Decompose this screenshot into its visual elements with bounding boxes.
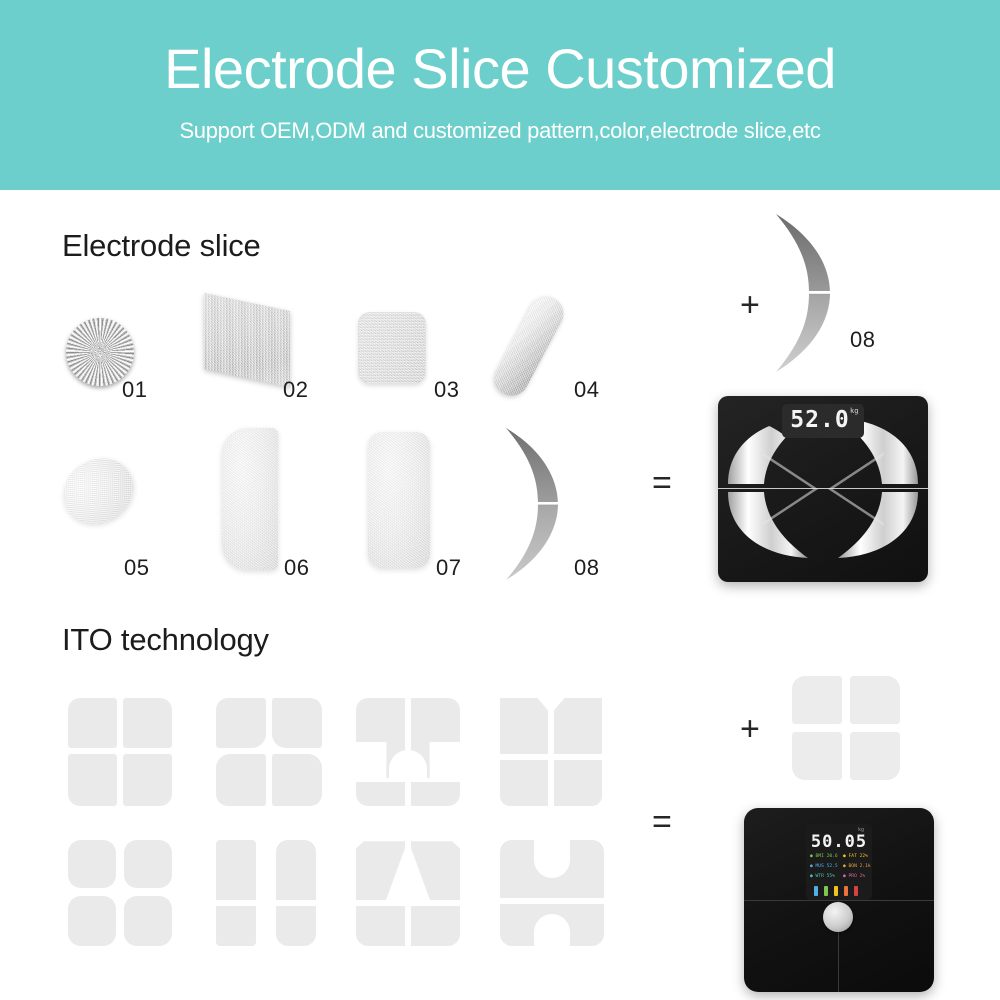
product-scale-ito: 50.05 kg ● BMI 20.6 ● FAT 22% ● MUS 52.5… [744, 808, 934, 992]
electrode-slice-label-03: 03 [434, 377, 459, 403]
scale2-bar-3 [834, 886, 838, 896]
electrode-slice-label-07: 07 [436, 555, 461, 581]
scale2-metric-fat: ● FAT 22% [843, 855, 868, 860]
electrode-slice-label-05: 05 [124, 555, 149, 581]
electrode-slice-07 [368, 432, 430, 568]
electrode-equation-arc-08 [772, 212, 836, 374]
ito-pattern-5 [68, 840, 172, 946]
crescent-arc-icon [772, 212, 836, 374]
page-header: Electrode Slice Customized Support OEM,O… [0, 0, 1000, 190]
product-scale-electrode: 52.0 kg [718, 396, 928, 582]
electrode-equation-equals: = [652, 466, 672, 500]
scale2-bar-4 [844, 886, 848, 896]
ito-pattern-4 [500, 698, 602, 806]
scale2-metric-pro: ● PRO 2% [843, 875, 865, 880]
scale2-metric-bone: ● BON 2.1k [843, 865, 871, 870]
electrode-slice-02 [204, 293, 290, 387]
scale-led-unit: kg [850, 408, 858, 415]
ito-equation-pattern [792, 676, 900, 780]
ito-pattern-1 [68, 698, 172, 806]
electrode-slice-05 [51, 446, 145, 537]
ito-pattern-2 [216, 698, 322, 806]
electrode-slice-03 [358, 312, 426, 384]
electrode-equation-plus: + [740, 288, 760, 322]
ito-equation-equals: = [652, 805, 672, 839]
scale-hairline [718, 488, 928, 489]
scale2-metric-wtr: ● WTR 55% [810, 875, 835, 880]
scale-led-value: 52.0 [788, 409, 852, 432]
electrode-slice-01 [66, 318, 134, 386]
scale2-bar-2 [824, 886, 828, 896]
ito-pattern-7 [356, 840, 460, 946]
scale2-led-unit: kg [858, 828, 864, 833]
crescent-arc-icon [502, 426, 564, 582]
page-title: Electrode Slice Customized [0, 34, 1000, 104]
scale2-metric-bmi: ● BMI 20.6 [810, 855, 838, 860]
ito-pattern-3 [356, 698, 460, 806]
scale2-led-value: 50.05 [806, 834, 872, 851]
section-title-electrode-slice: Electrode slice [62, 228, 261, 264]
scale2-metric-mus: ● MUS 52.5 [810, 865, 838, 870]
ito-pattern-6 [216, 840, 316, 946]
page-subtitle: Support OEM,ODM and customized pattern,c… [0, 118, 1000, 144]
electrode-slice-label-02: 02 [283, 377, 308, 403]
electrode-slice-04 [489, 290, 570, 401]
scale2-bar-5 [854, 886, 858, 896]
electrode-slice-label-04: 04 [574, 377, 599, 403]
electrode-slice-label-01: 01 [122, 377, 147, 403]
electrode-slice-06 [222, 428, 278, 570]
electrode-equation-label-08: 08 [850, 327, 875, 353]
ito-pattern-8 [500, 840, 604, 946]
electrode-slice-label-06: 06 [284, 555, 309, 581]
electrode-slice-08 [502, 426, 564, 582]
ito-equation-plus: + [740, 712, 760, 746]
electrode-slice-label-08: 08 [574, 555, 599, 581]
section-title-ito-technology: ITO technology [62, 622, 269, 658]
scale2-bar-1 [814, 886, 818, 896]
scale2-center-button [823, 902, 853, 932]
